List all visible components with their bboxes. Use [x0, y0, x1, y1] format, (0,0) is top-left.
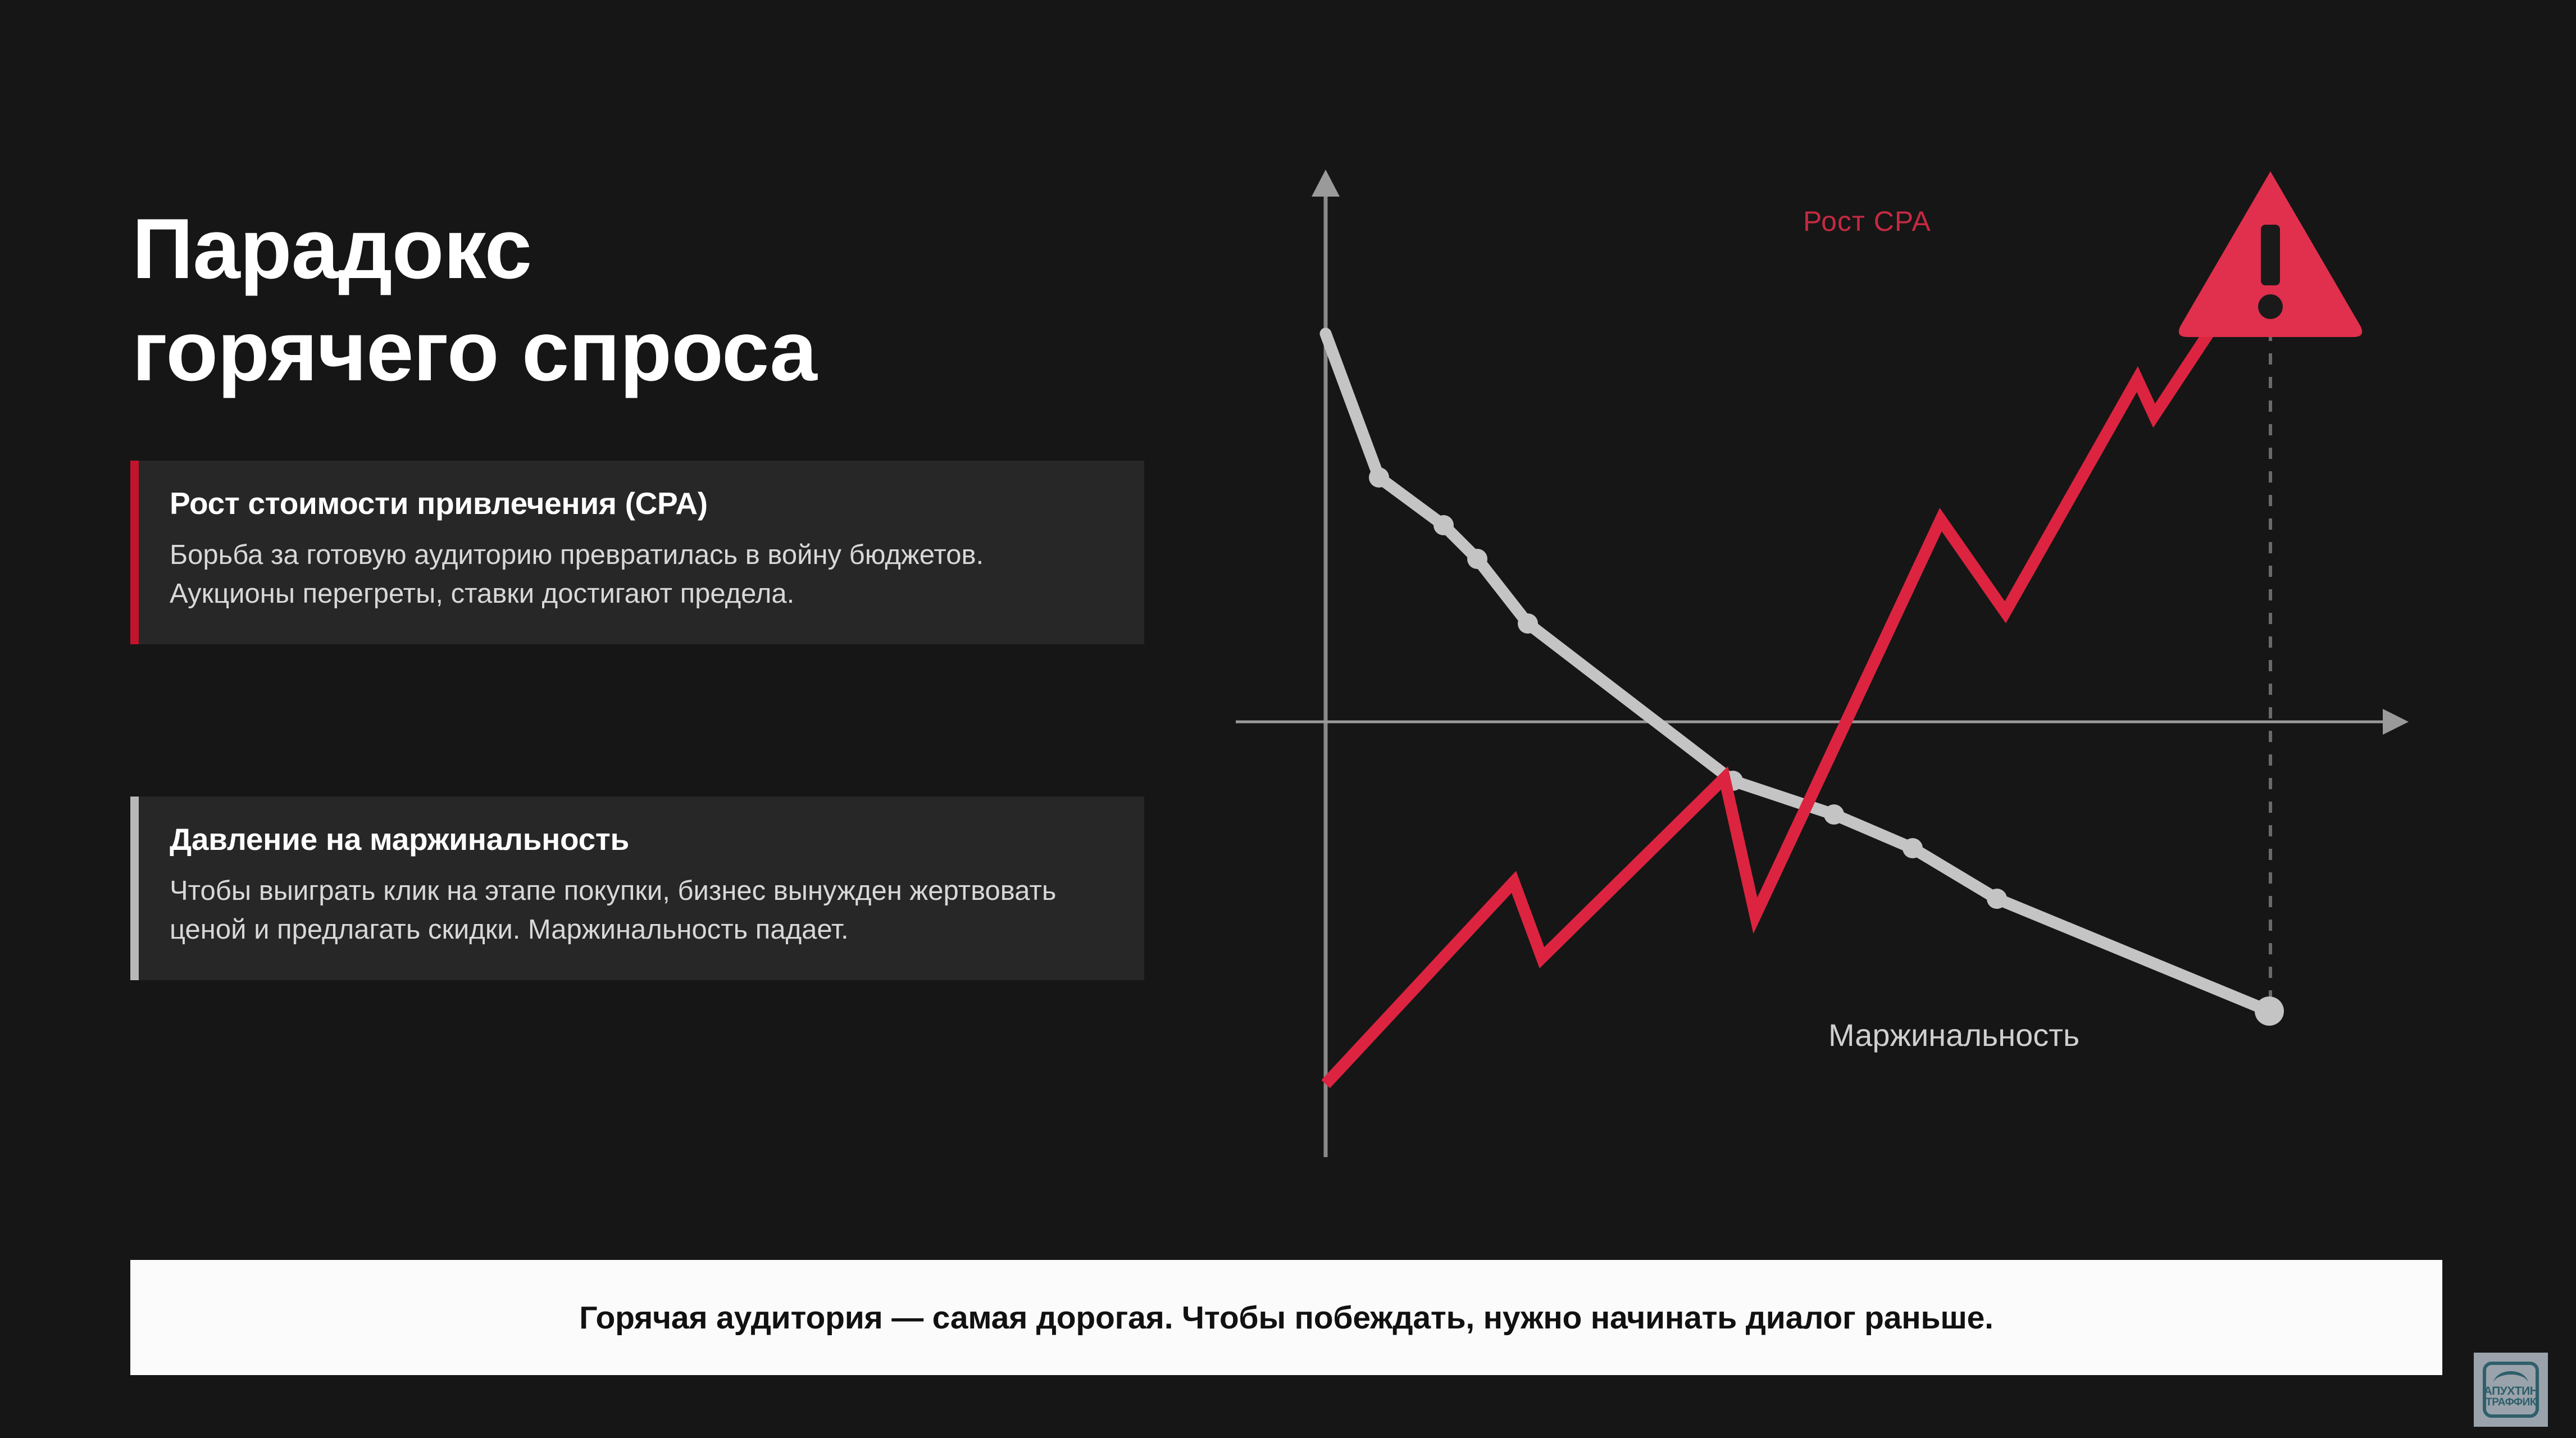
summary-banner: Горячая аудитория — самая дорогая. Чтобы…	[130, 1260, 2442, 1375]
title-line-2: горячего спроса	[132, 300, 1199, 402]
card-margin: Давление на маржинальность Чтобы выиграт…	[130, 797, 1144, 980]
series-margin-marker	[1824, 804, 1844, 825]
card-margin-accent-bar	[130, 797, 139, 980]
series-margin-marker	[1467, 549, 1487, 569]
slide-canvas: Парадокс горячего спроса Рост стоимости …	[0, 0, 2576, 1438]
series-margin-marker	[1987, 889, 2007, 909]
chart-label-margin: Маржинальность	[1828, 1017, 2079, 1053]
x-axis-arrow-icon	[2383, 709, 2409, 735]
page-title: Парадокс горячего спроса	[132, 198, 1199, 403]
card-margin-heading: Давление на маржинальность	[170, 822, 1110, 857]
series-margin-marker	[1433, 515, 1454, 535]
warning-triangle-icon	[2179, 171, 2362, 337]
card-margin-body: Чтобы выиграть клик на этапе покупки, би…	[170, 872, 1110, 950]
summary-banner-text: Горячая аудитория — самая дорогая. Чтобы…	[579, 1299, 1994, 1336]
series-margin-marker	[1369, 467, 1389, 488]
series-margin-marker	[1518, 613, 1538, 634]
chart-label-cpa: Рост CPA	[1803, 205, 1931, 238]
series-margin-marker	[2255, 996, 2284, 1026]
logo-frame: АПУХТИН ТРАФФИК	[2483, 1362, 2539, 1418]
card-cpa: Рост стоимости привлечения (CPA) Борьба …	[130, 461, 1144, 644]
logo-line-2: ТРАФФИК	[2486, 1397, 2536, 1409]
card-cpa-heading: Рост стоимости привлечения (CPA)	[170, 486, 1110, 521]
chart-container: Рост CPA Маржинальность	[1225, 140, 2460, 1180]
logo-line-1: АПУХТИН	[2484, 1385, 2538, 1397]
card-cpa-body: Борьба за готовую аудиторию превратилась…	[170, 536, 1110, 614]
series-margin-markers	[1369, 467, 2284, 1026]
series-line-margin	[1326, 334, 2269, 1011]
series-margin-marker	[1903, 838, 1923, 858]
brand-logo: АПУХТИН ТРАФФИК	[2474, 1353, 2548, 1427]
y-axis-arrow-icon	[1312, 170, 1340, 197]
card-cpa-accent-bar	[130, 461, 139, 644]
logo-arc-icon	[2493, 1371, 2528, 1384]
series-line-cpa	[1326, 275, 2247, 1084]
title-line-1: Парадокс	[132, 201, 531, 297]
